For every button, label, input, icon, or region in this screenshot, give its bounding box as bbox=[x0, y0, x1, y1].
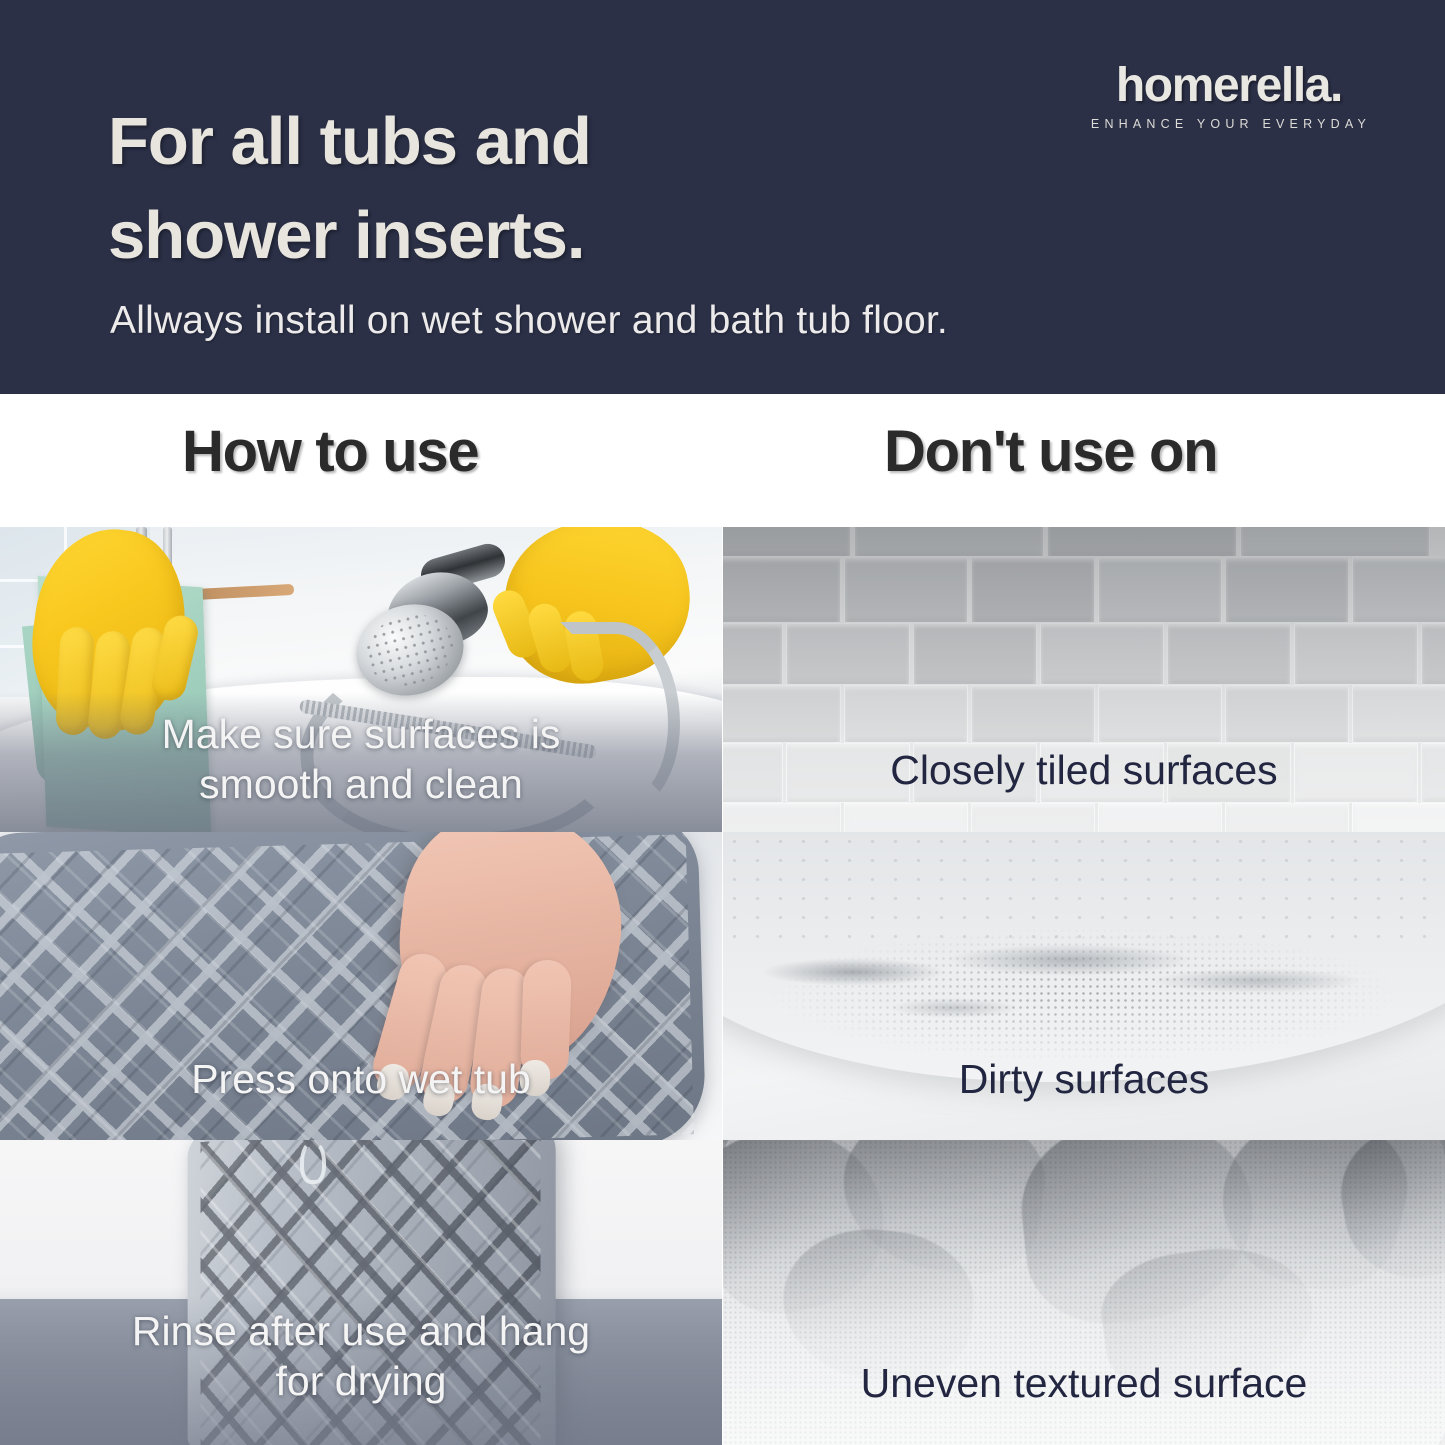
tile-row bbox=[723, 743, 1439, 803]
logo-tagline: ENHANCE YOUR EVERYDAY bbox=[1087, 117, 1371, 131]
caption-scrim bbox=[0, 692, 722, 832]
subway-tile bbox=[971, 557, 1095, 623]
subway-tile bbox=[1240, 527, 1430, 557]
subway-tile bbox=[723, 557, 841, 623]
subway-tile bbox=[1352, 803, 1445, 832]
panels-grid: Make sure surfaces is smooth and clean P… bbox=[0, 527, 1445, 1445]
subway-tile bbox=[723, 743, 783, 803]
panel-make-sure-surfaces: Make sure surfaces is smooth and clean bbox=[0, 527, 722, 832]
logo-wordmark: homerella. bbox=[1087, 62, 1371, 110]
caption-scrim bbox=[0, 1295, 722, 1445]
subway-tile bbox=[854, 527, 1044, 557]
subway-tile bbox=[1225, 685, 1349, 743]
stone-lighting bbox=[723, 1140, 1445, 1445]
section-headings-band: How to use Don't use on bbox=[0, 394, 1445, 527]
page-title: For all tubs and shower inserts. bbox=[108, 95, 808, 283]
subway-tile bbox=[1167, 743, 1291, 803]
subway-tile bbox=[844, 557, 968, 623]
panel-dirty-surfaces: Dirty surfaces bbox=[723, 832, 1445, 1140]
subway-tile bbox=[844, 803, 968, 832]
panel-closely-tiled-surfaces: Closely tiled surfaces bbox=[723, 527, 1445, 832]
dirt-specks bbox=[723, 906, 1445, 1076]
header-banner: For all tubs and shower inserts. Allways… bbox=[0, 0, 1445, 394]
subway-tile bbox=[1040, 743, 1164, 803]
brand-logo: homerella. ENHANCE YOUR EVERYDAY bbox=[1087, 62, 1371, 131]
tile-row bbox=[723, 803, 1445, 832]
tile-row bbox=[723, 623, 1439, 685]
dont-use-on-heading: Don't use on bbox=[884, 418, 1217, 485]
subway-tile bbox=[1225, 803, 1349, 832]
subway-tile bbox=[1098, 557, 1222, 623]
hanging-hook bbox=[300, 1140, 326, 1184]
subway-tile bbox=[1098, 685, 1222, 743]
subway-tile bbox=[1098, 803, 1222, 832]
infographic-page: For all tubs and shower inserts. Allways… bbox=[0, 0, 1445, 1445]
panel-press-onto-wet-tub: Press onto wet tub bbox=[0, 832, 722, 1140]
tile-row bbox=[723, 685, 1445, 743]
subway-tile bbox=[1294, 623, 1418, 685]
subway-tile bbox=[1421, 743, 1445, 803]
subway-tile bbox=[844, 685, 968, 743]
subway-tile bbox=[1225, 557, 1349, 623]
subway-tile bbox=[1421, 623, 1445, 685]
subway-tile bbox=[723, 803, 841, 832]
subway-tile bbox=[913, 743, 1037, 803]
subway-tile bbox=[786, 623, 910, 685]
subway-tile bbox=[1040, 623, 1164, 685]
subway-tile bbox=[1167, 623, 1291, 685]
tile-row bbox=[723, 527, 1441, 557]
subway-tile bbox=[971, 803, 1095, 832]
tile-row bbox=[723, 557, 1445, 623]
subway-tile bbox=[723, 623, 783, 685]
subway-tile bbox=[1352, 685, 1445, 743]
subway-tile bbox=[723, 527, 851, 557]
subway-tile bbox=[1047, 527, 1237, 557]
panel-rinse-and-hang: Rinse after use and hang for drying bbox=[0, 1140, 722, 1445]
subway-tile bbox=[786, 743, 910, 803]
how-to-use-heading: How to use bbox=[182, 418, 478, 485]
panel-uneven-textured-surface: Uneven textured surface bbox=[723, 1140, 1445, 1445]
subway-tile bbox=[723, 685, 841, 743]
subway-tile bbox=[971, 685, 1095, 743]
subway-tile bbox=[1294, 743, 1418, 803]
subway-tile bbox=[913, 623, 1037, 685]
fingernail bbox=[519, 1059, 550, 1096]
subway-tile bbox=[1352, 557, 1445, 623]
header-subtitle: Allways install on wet shower and bath t… bbox=[110, 298, 948, 345]
